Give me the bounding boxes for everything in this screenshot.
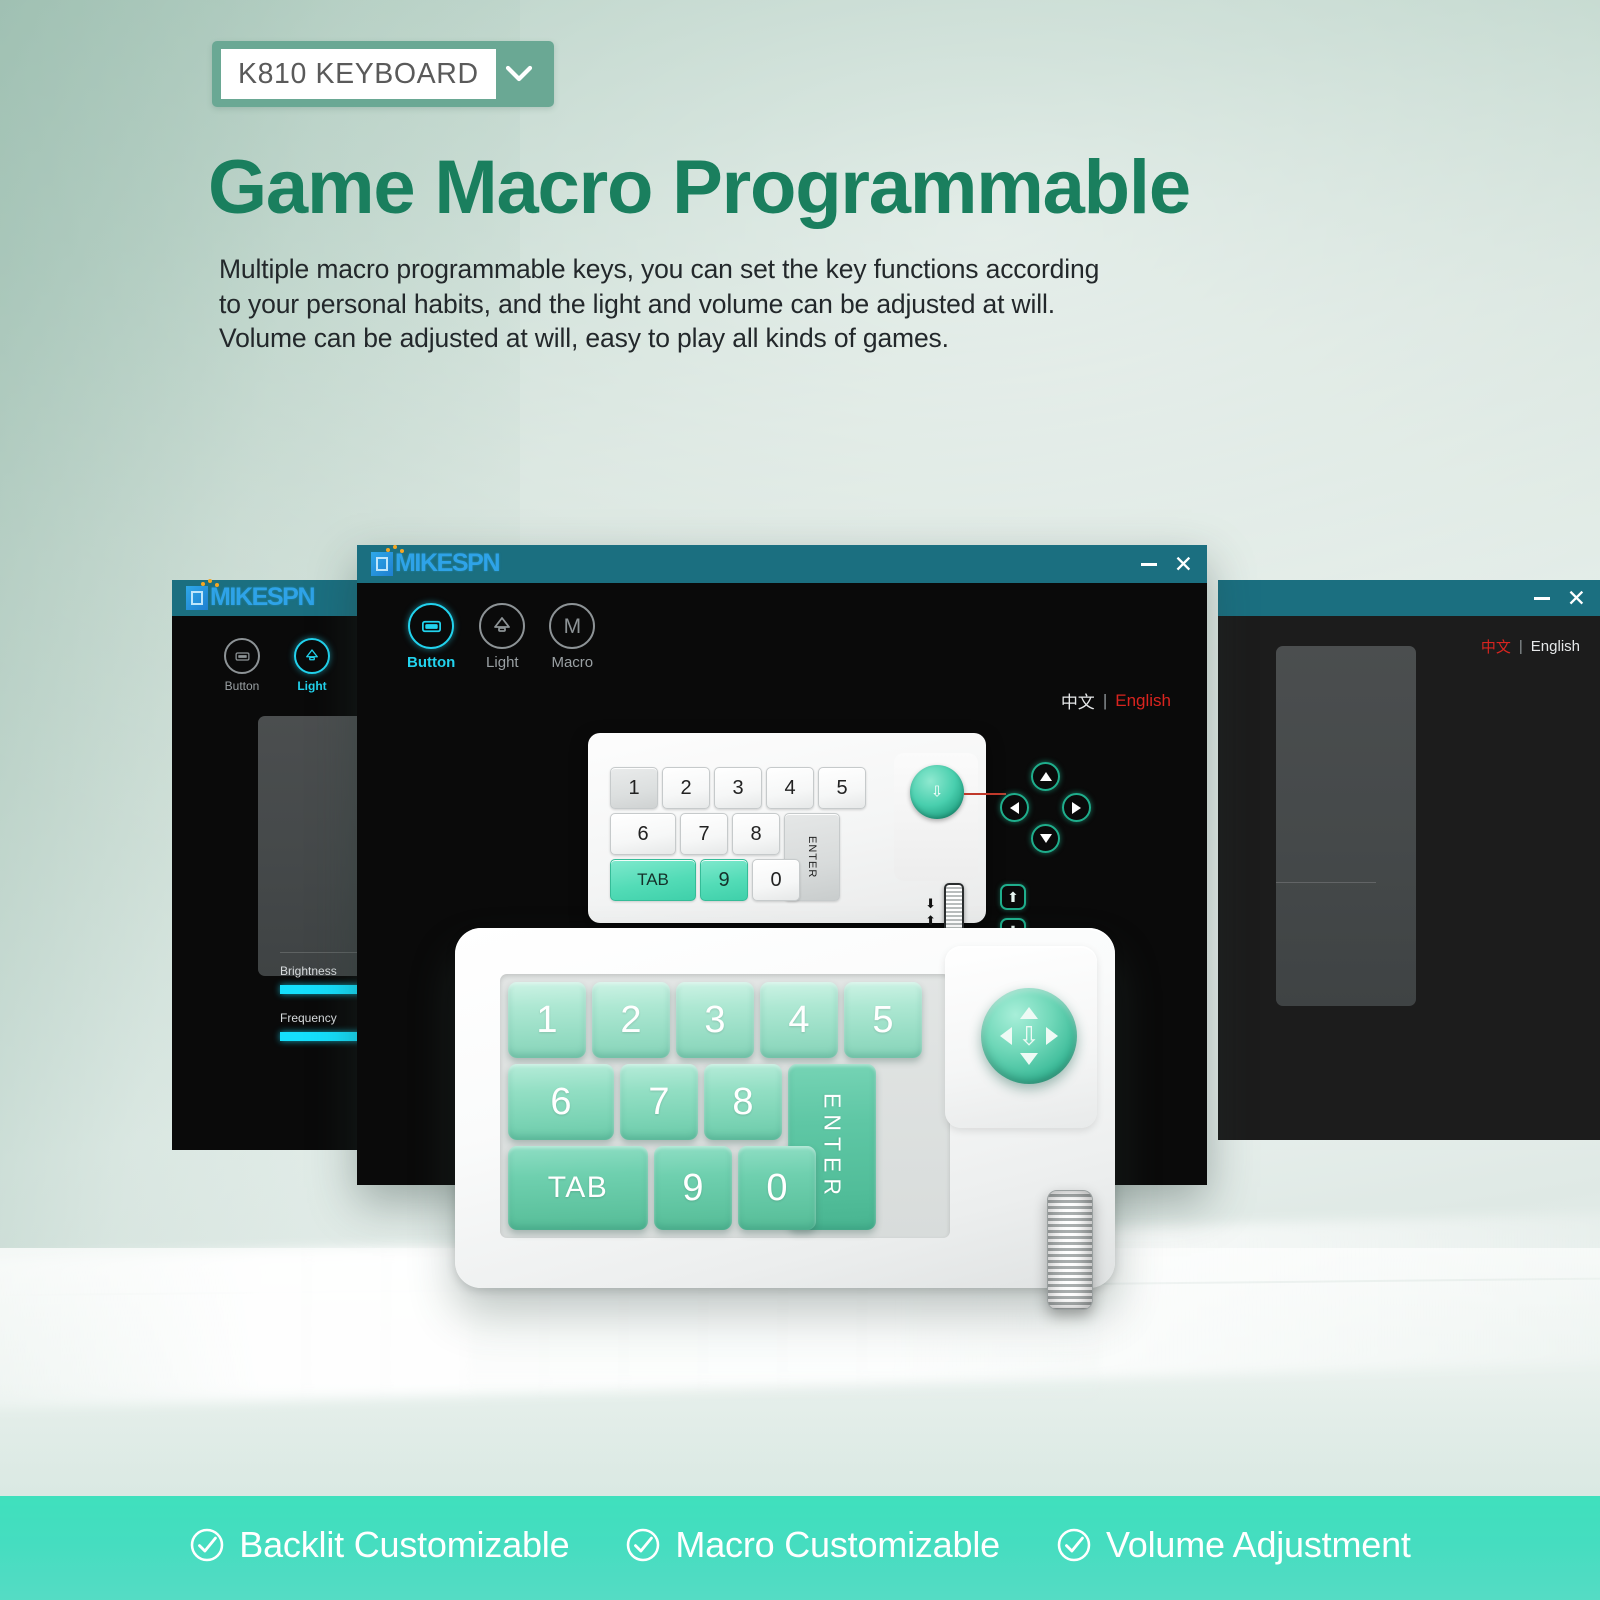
joystick-center-arrow: ⇩ [931,785,944,800]
preview-panel-right [1276,646,1416,1006]
direction-indicator-cluster: ⬆ ⬇ [1000,762,1092,854]
logo-dots-icon [201,581,227,591]
key-rear-0[interactable]: 0 [752,859,800,901]
close-icon[interactable]: ✕ [1174,553,1193,576]
key-front-tab[interactable]: TAB [508,1146,648,1230]
tab-label: Button [407,654,455,671]
key-front-0[interactable]: 0 [738,1146,816,1230]
macro-m-icon: M [549,603,595,649]
language-switch-right[interactable]: 中文 | English [1481,636,1580,657]
key-rear-3[interactable]: 3 [714,767,762,809]
key-rear-9[interactable]: 9 [700,859,748,901]
tab-button-left[interactable]: Button [224,638,260,693]
keypad-product-front: 1 2 3 4 5 6 7 8 ENTER TAB 9 0 ⇩ [455,928,1115,1288]
lang-english[interactable]: English [1531,638,1580,655]
tab-button-center[interactable]: Button [407,603,455,671]
feature-label: Backlit Customizable [239,1524,569,1566]
software-window-right[interactable]: ✕ 中文 | English [1218,580,1600,1140]
hero-line-1: Multiple macro programmable keys, you ca… [219,252,1099,287]
key-front-1[interactable]: 1 [508,982,586,1058]
minimize-icon[interactable] [1141,563,1157,566]
bulb-icon [294,638,330,674]
check-circle-icon [1056,1527,1092,1563]
window-controls-right[interactable]: ✕ [1534,587,1586,610]
keypad-front-well: 1 2 3 4 5 6 7 8 ENTER TAB 9 0 [500,974,950,1238]
minimize-icon[interactable] [1534,597,1550,600]
keypad-reflection [470,1290,1100,1410]
key-rear-1[interactable]: 1 [610,767,658,809]
bulb-icon [479,603,525,649]
tab-light-center[interactable]: Light [479,603,525,671]
tab-label: Macro [551,654,593,671]
window-titlebar-right[interactable]: ✕ [1218,580,1600,616]
lang-separator: | [1103,691,1107,711]
key-front-3[interactable]: 3 [676,982,754,1058]
key-rear-tab[interactable]: TAB [610,859,696,901]
key-front-8[interactable]: 8 [704,1064,782,1140]
language-switch-center[interactable]: 中文 | English [1061,688,1171,713]
key-front-6[interactable]: 6 [508,1064,614,1140]
check-circle-icon [625,1527,661,1563]
feature-bar: Backlit Customizable Macro Customizable … [0,1496,1600,1600]
panel-divider-right [1276,882,1376,883]
keypad-icon [408,603,454,649]
key-rear-4[interactable]: 4 [766,767,814,809]
joystick-icon[interactable]: ⇩ [910,765,964,819]
arrow-down-icon: ⬆ [925,914,936,927]
window-controls-center[interactable]: ✕ [1141,553,1193,576]
arrow-up-icon: ⬇ [925,897,936,910]
keypad-rear-well: 1 2 3 4 5 6 7 8 ENTER TAB 9 0 [610,767,878,901]
feature-item-volume: Volume Adjustment [1056,1524,1411,1566]
tab-light-left[interactable]: Light [294,638,330,693]
app-logo-center: MIKESPN [371,552,499,576]
hero-line-3: Volume can be adjusted at will, easy to … [219,321,1099,356]
lang-english[interactable]: English [1115,691,1171,711]
key-rear-7[interactable]: 7 [680,813,728,855]
window-body-right: 中文 | English [1218,616,1600,1140]
feature-label: Macro Customizable [675,1524,1000,1566]
tab-label: Light [486,654,519,671]
key-front-2[interactable]: 2 [592,982,670,1058]
joystick-glyph: ⇩ [1000,1007,1058,1065]
feature-item-macro: Macro Customizable [625,1524,1000,1566]
key-front-5[interactable]: 5 [844,982,922,1058]
triangle-up-icon[interactable] [1031,762,1060,791]
product-model-dropdown[interactable]: K810 KEYBOARD [212,41,554,107]
triangle-down-icon[interactable] [1031,824,1060,853]
keypad-icon [224,638,260,674]
logo-mark-icon [371,552,393,576]
key-rear-8[interactable]: 8 [732,813,780,855]
keypad-front-side-pod: ⇩ [945,946,1097,1128]
joystick-glyph: ⇩ [920,775,954,809]
tabbar-center[interactable]: Button Light M Macro [407,603,595,671]
key-front-7[interactable]: 7 [620,1064,698,1140]
macro-letter: M [564,616,582,637]
logo-mark-icon [186,586,208,610]
close-icon[interactable]: ✕ [1567,587,1586,610]
keypad-rear-side-pod: ⇩ [894,753,978,881]
key-front-4[interactable]: 4 [760,982,838,1058]
tab-macro-center[interactable]: M Macro [549,603,595,671]
key-rear-2[interactable]: 2 [662,767,710,809]
page-title: Game Macro Programmable [208,144,1190,231]
callout-line [964,793,1006,795]
logo-dots-icon [386,547,412,557]
product-model-value: K810 KEYBOARD [221,49,496,99]
window-titlebar-center[interactable]: MIKESPN ✕ [357,545,1207,583]
key-front-9[interactable]: 9 [654,1146,732,1230]
check-circle-icon [189,1527,225,1563]
joystick-center-arrow: ⇩ [1018,1023,1040,1049]
hero-line-2: to your personal habits, and the light a… [219,287,1099,322]
key-rear-5[interactable]: 5 [818,767,866,809]
tab-label: Light [297,679,326,693]
scroll-direction-indicators: ⬇ ⬆ [925,897,936,927]
triangle-left-icon[interactable] [1000,793,1029,822]
feature-label: Volume Adjustment [1106,1524,1411,1566]
lang-separator: | [1519,638,1523,655]
chevron-down-icon[interactable] [496,49,542,99]
key-rear-6[interactable]: 6 [610,813,676,855]
keypad-diagram-rear: 1 2 3 4 5 6 7 8 ENTER TAB 9 0 ⇩ ⬇ ⬆ [588,733,986,923]
app-logo-left: MIKESPN [186,586,314,610]
joystick-icon[interactable]: ⇩ [981,988,1077,1084]
triangle-right-icon[interactable] [1062,793,1091,822]
lang-chinese[interactable]: 中文 [1481,636,1511,657]
hero-description: Multiple macro programmable keys, you ca… [219,252,1099,356]
feature-item-backlit: Backlit Customizable [189,1524,569,1566]
lang-chinese[interactable]: 中文 [1061,688,1095,713]
tab-label: Button [225,679,260,693]
volume-wheel-icon[interactable] [1047,1190,1093,1310]
arrow-up-icon[interactable]: ⬆ [1000,884,1026,910]
